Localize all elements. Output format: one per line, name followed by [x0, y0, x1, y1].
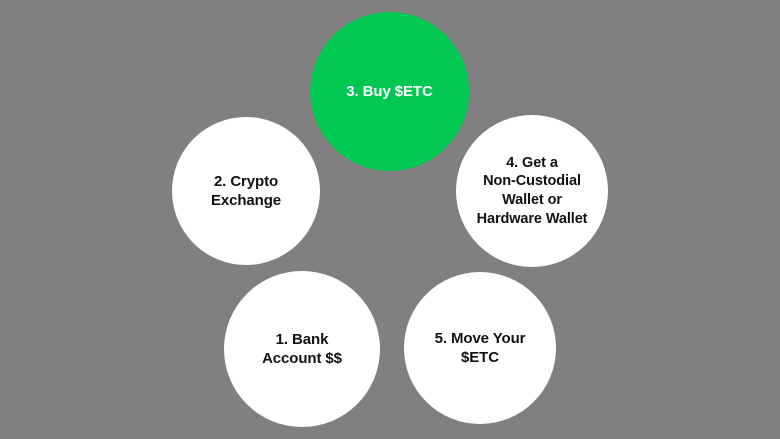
- node-bank-account-label: 1. Bank Account $$: [254, 330, 350, 368]
- node-bank-account[interactable]: 1. Bank Account $$: [224, 271, 380, 427]
- node-get-wallet-label: 4. Get a Non-Custodial Wallet or Hardwar…: [469, 154, 596, 228]
- node-buy-etc-label: 3. Buy $ETC: [338, 82, 440, 101]
- node-move-etc[interactable]: 5. Move Your $ETC: [404, 272, 556, 424]
- node-move-etc-label: 5. Move Your $ETC: [427, 329, 534, 367]
- node-crypto-exchange-label: 2. Crypto Exchange: [203, 172, 289, 210]
- node-buy-etc[interactable]: 3. Buy $ETC: [310, 12, 469, 171]
- node-crypto-exchange[interactable]: 2. Crypto Exchange: [172, 117, 320, 265]
- diagram-canvas: 2. Crypto Exchange 3. Buy $ETC 4. Get a …: [0, 0, 780, 439]
- node-get-wallet[interactable]: 4. Get a Non-Custodial Wallet or Hardwar…: [456, 115, 608, 267]
